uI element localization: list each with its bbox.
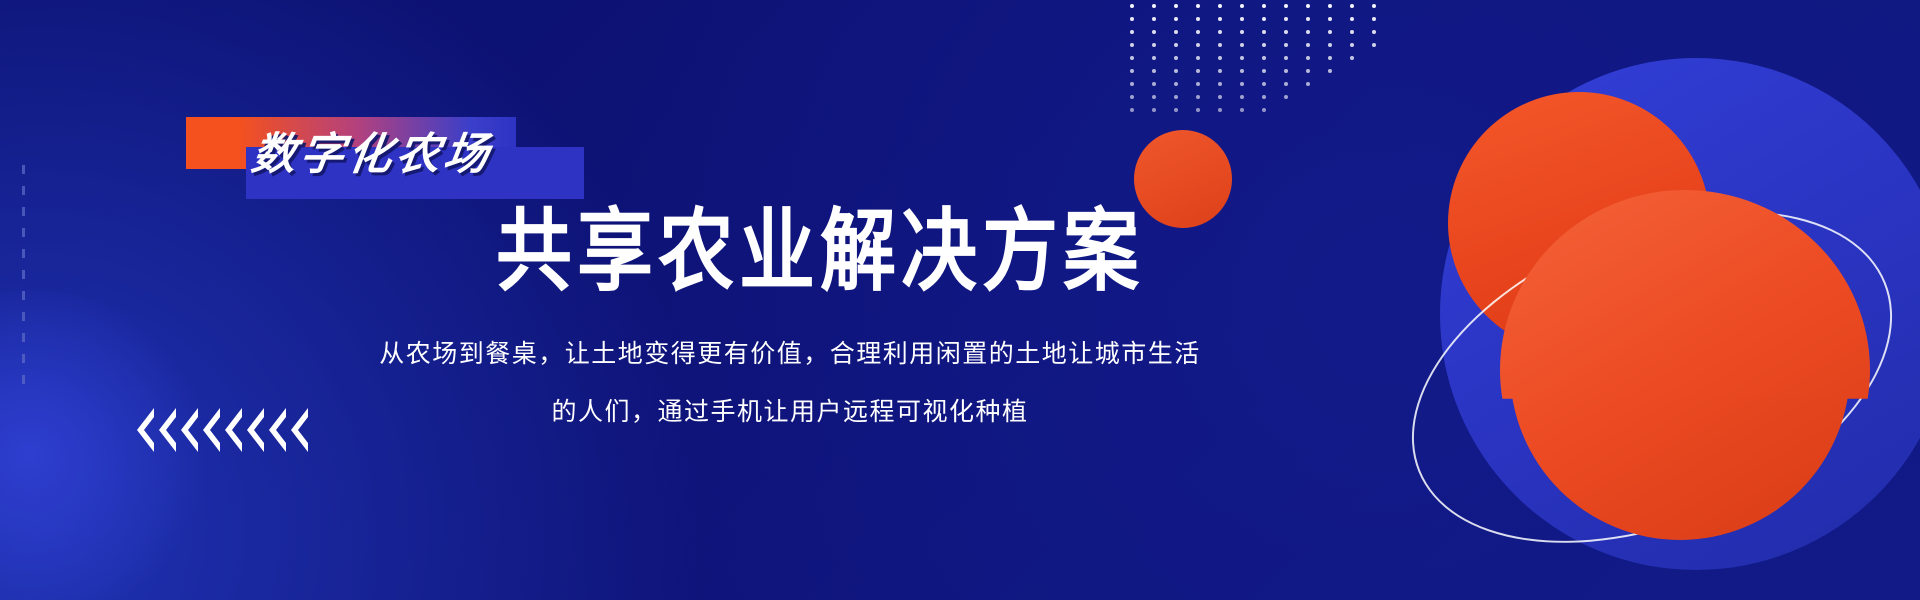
subtitle-line-2: 的人们，通过手机让用户远程可视化种植 bbox=[320, 383, 1260, 441]
subtitle: 从农场到餐桌，让土地变得更有价值，合理利用闲置的土地让城市生活 的人们，通过手机… bbox=[320, 325, 1260, 441]
double-chevron-left-icon bbox=[245, 408, 265, 452]
double-chevron-left-icon bbox=[267, 408, 287, 452]
chevron-decor-group bbox=[135, 408, 309, 452]
page-title: 共享农业解决方案 bbox=[440, 196, 1200, 309]
double-chevron-left-icon bbox=[289, 408, 309, 452]
subtitle-line-1: 从农场到餐桌，让土地变得更有价值，合理利用闲置的土地让城市生活 bbox=[320, 325, 1260, 383]
double-chevron-left-icon bbox=[135, 408, 155, 452]
double-chevron-left-icon bbox=[179, 408, 199, 452]
double-chevron-left-icon bbox=[201, 408, 221, 452]
badge-label: 数字化农场 bbox=[248, 123, 597, 187]
dotted-vertical-line-decor bbox=[22, 165, 25, 385]
hero-banner: 数字化农场 共享农业解决方案 从农场到餐桌，让土地变得更有价值，合理利用闲置的土… bbox=[0, 0, 1920, 600]
badge: 数字化农场 bbox=[186, 117, 586, 199]
double-chevron-left-icon bbox=[223, 408, 243, 452]
double-chevron-left-icon bbox=[157, 408, 177, 452]
